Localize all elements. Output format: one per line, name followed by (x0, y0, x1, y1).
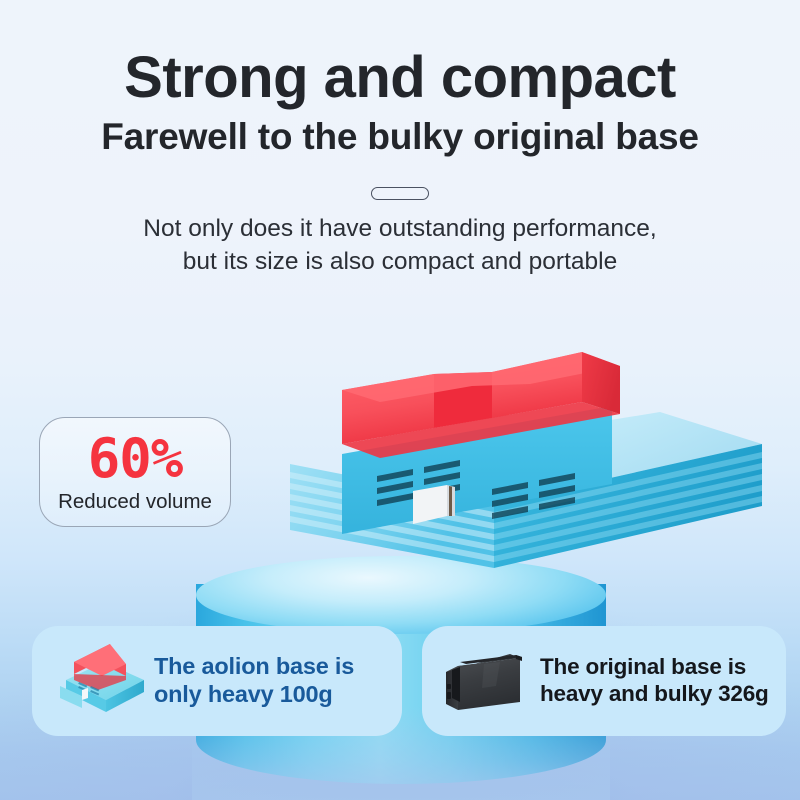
badge-caption: Reduced volume (58, 492, 212, 513)
original-dock-icon (436, 638, 540, 724)
original-card-line-2: heavy and bulky 326g (540, 681, 769, 708)
body-copy-line-2: but its size is also compact and portabl… (0, 245, 800, 278)
aolion-card-line-2: only heavy 100g (154, 681, 354, 709)
page-title: Strong and compact (0, 48, 800, 107)
original-card-text: The original base is heavy and bulky 326… (540, 654, 769, 707)
product-image (282, 336, 762, 576)
reduced-volume-badge: 60% Reduced volume (39, 417, 231, 527)
divider-pill (371, 187, 429, 200)
body-copy: Not only does it have outstanding perfor… (0, 212, 800, 278)
comparison-card-original: The original base is heavy and bulky 326… (422, 626, 786, 736)
aolion-dock-icon (50, 638, 154, 724)
promo-banner: Strong and compact Farewell to the bulky… (0, 0, 800, 800)
page-subtitle: Farewell to the bulky original base (0, 118, 800, 157)
comparison-card-aolion: The aolion base is only heavy 100g (32, 626, 402, 736)
body-copy-line-1: Not only does it have outstanding perfor… (143, 215, 656, 242)
aolion-card-line-1: The aolion base is (154, 653, 354, 679)
original-card-line-1: The original base is (540, 654, 746, 679)
aolion-card-text: The aolion base is only heavy 100g (154, 653, 354, 708)
badge-percent-value: 60% (88, 432, 183, 486)
